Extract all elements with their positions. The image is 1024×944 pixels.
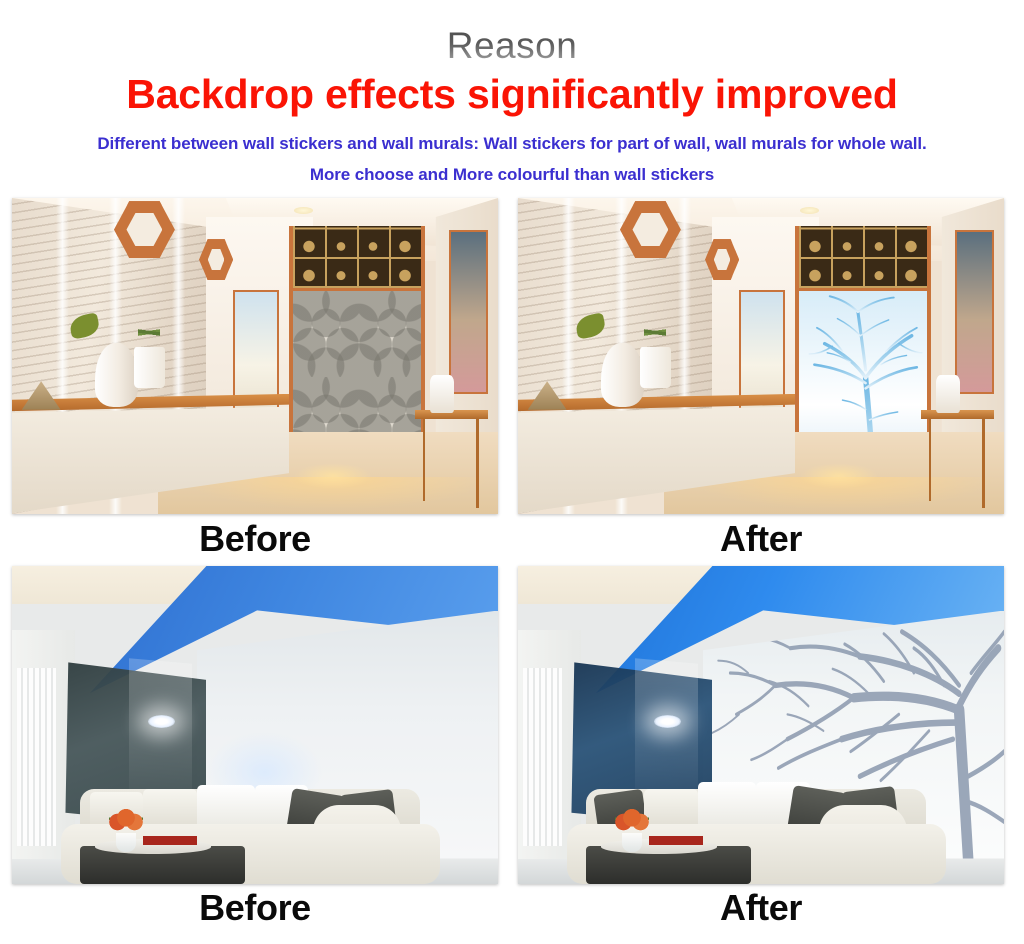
hallway-before-scene xyxy=(12,198,498,514)
hallway-after-scene xyxy=(518,198,1004,514)
caption-hallway-after: After xyxy=(518,519,1004,559)
side-table-leg xyxy=(476,419,478,507)
image-hallway-after xyxy=(518,198,1004,514)
caption-livingroom-after: After xyxy=(518,888,1004,928)
red-book xyxy=(143,836,196,844)
lattice-screen xyxy=(293,226,421,291)
downlight xyxy=(148,715,175,728)
image-livingroom-before xyxy=(12,566,498,884)
eyebrow-heading: Reason xyxy=(0,26,1024,66)
image-hallway-before xyxy=(12,198,498,514)
image-livingroom-after xyxy=(518,566,1004,884)
radiator xyxy=(523,668,562,846)
red-book xyxy=(649,836,702,844)
white-vase xyxy=(95,343,139,406)
white-vase xyxy=(601,343,645,406)
livingroom-after-scene xyxy=(518,566,1004,884)
radiator xyxy=(17,668,56,846)
page-title: Backdrop effects significantly improved xyxy=(0,70,1024,118)
table-lamp xyxy=(936,375,960,413)
lattice-screen xyxy=(799,226,927,291)
side-table-leg xyxy=(423,419,425,501)
white-planter xyxy=(640,347,672,388)
floor-spot-glow xyxy=(294,463,372,488)
right-wall-art xyxy=(955,230,994,394)
table-lamp xyxy=(430,375,454,413)
side-table-leg xyxy=(929,419,931,501)
livingroom-before-scene xyxy=(12,566,498,884)
white-planter xyxy=(134,347,166,388)
caption-livingroom-before: Before xyxy=(12,888,498,928)
caption-hallway-before: Before xyxy=(12,519,498,559)
flower-bouquet xyxy=(615,808,649,837)
floor-spot-glow xyxy=(800,463,878,488)
product-infographic: Reason Backdrop effects significantly im… xyxy=(0,0,1024,944)
subtitle-line-1: Different between wall stickers and wall… xyxy=(0,133,1024,155)
subtitle-line-2: More choose and More colourful than wall… xyxy=(0,164,1024,186)
side-table-leg xyxy=(982,419,984,507)
downlight xyxy=(654,715,681,728)
flower-bouquet xyxy=(109,808,143,837)
right-wall-art xyxy=(449,230,488,394)
